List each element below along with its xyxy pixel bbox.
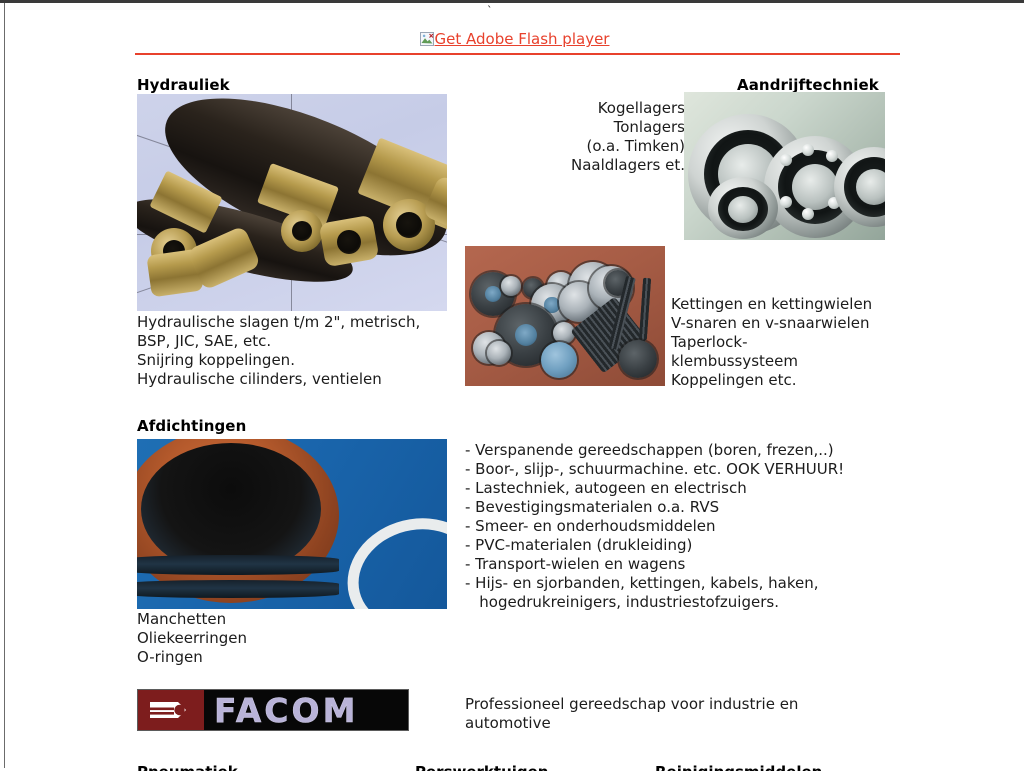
list-item: - Verspanende gereedschappen (boren, fre… [465,441,905,460]
broken-image-icon [420,32,434,46]
page-canvas: ` Get Adobe Flash player Hydrauliek [5,3,1024,768]
get-adobe-flash-player-link[interactable]: Get Adobe Flash player [420,30,610,48]
list-item: - PVC-materialen (drukleiding) [465,536,905,555]
facom-wordmark: FACOM [204,690,408,730]
list-item: - Smeer- en onderhoudsmiddelen [465,517,905,536]
flash-banner: Get Adobe Flash player [5,29,1024,48]
list-item: - Bevestigingsmaterialen o.a. RVS [465,498,905,517]
section-heading-afdichtingen: Afdichtingen [137,417,246,435]
list-item: - Transport-wielen en wagens [465,555,905,574]
ball-bearings-image [684,92,885,240]
list-item: - Hijs- en sjorbanden, kettingen, kabels… [465,574,905,593]
section-heading-hydrauliek: Hydrauliek [137,76,230,94]
facom-emblem-icon [138,690,204,730]
afdichtingen-caption: Manchetten Oliekeerringen O-ringen [137,610,467,667]
bearings-caption: Kogellagers Tonlagers (o.a. Timken) Naal… [460,99,685,175]
bottom-heading-perswerktuigen: Perswerktuigen [415,763,548,771]
facom-logo: FACOM [137,689,409,731]
sprockets-and-chains-image [465,246,665,386]
stray-character: ` [487,5,493,16]
product-bullet-list: - Verspanende gereedschappen (boren, fre… [465,441,905,612]
bottom-heading-reinigingsmiddelen: Reinigingsmiddelen [655,763,822,771]
gears-caption: Kettingen en kettingwielen V-snaren en v… [671,295,921,390]
hydraulic-hoses-image [137,94,447,311]
hydrauliek-caption: Hydraulische slagen t/m 2", metrisch, BS… [137,313,467,389]
list-item: hogedrukreinigers, industriestofzuigers. [465,593,905,612]
facom-description: Professioneel gereedschap voor industrie… [465,695,905,733]
list-item: - Boor-, slijp-, schuurmachine. etc. OOK… [465,460,905,479]
flash-link-label: Get Adobe Flash player [435,30,610,48]
list-item: - Lastechniek, autogeen en electrisch [465,479,905,498]
bottom-heading-pneumatiek: Pneumatiek [137,763,238,771]
oil-seal-and-o-ring-image [137,439,447,609]
header-divider [135,53,900,55]
